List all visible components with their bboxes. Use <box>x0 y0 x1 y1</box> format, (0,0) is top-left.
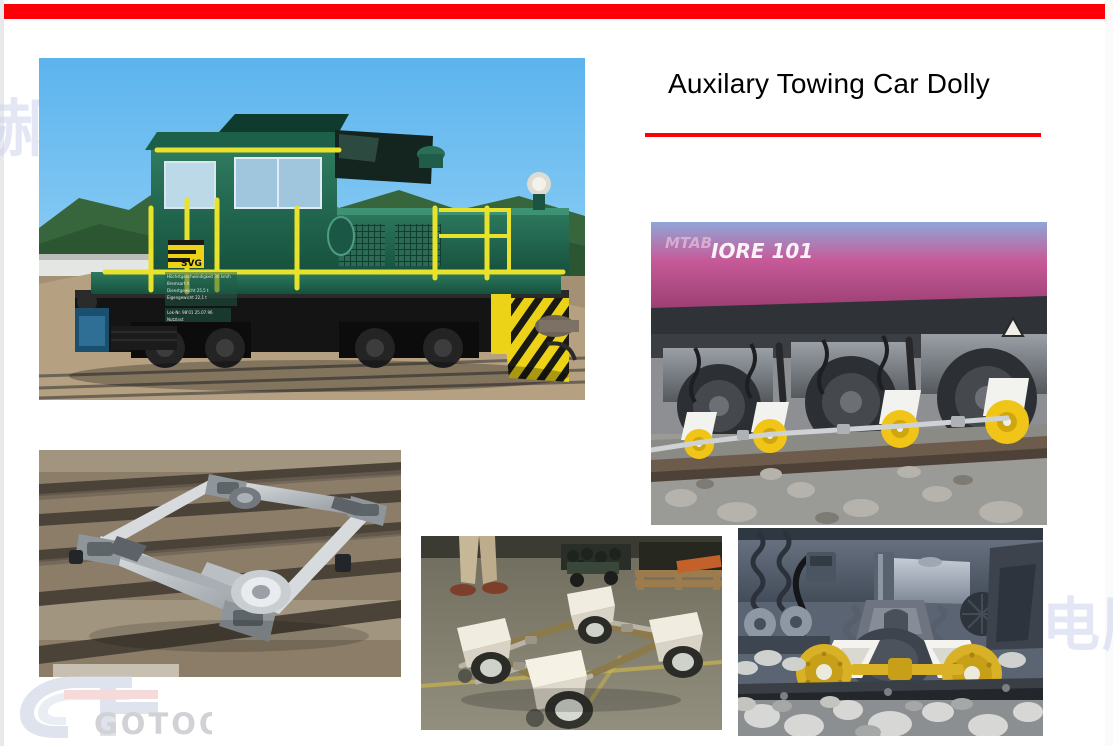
svg-text:GOTOO: GOTOO <box>94 707 212 741</box>
svg-text:Lok-Nr. 98'01 25.07.96: Lok-Nr. 98'01 25.07.96 <box>167 310 213 315</box>
brand-logo: GOTOO <box>12 672 212 742</box>
photo-iore-locomotive-bogies-with-dollies: IORE 101 MTAB <box>651 222 1047 525</box>
photo-workshop-dolly-assembly <box>421 536 722 730</box>
svg-text:Höchstgeschwindigkeit 30 km/: Höchstgeschwindigkeit 30 km/h <box>167 274 231 279</box>
svg-text:Eigengewicht 22,1 t: Eigengewicht 22,1 t <box>167 295 207 300</box>
svg-text:Nutzlast: Nutzlast <box>167 317 184 322</box>
svg-text:MTAB: MTAB <box>665 234 712 252</box>
photo-green-shunting-locomotive: SVG Höchstgeschwindigkeit 30 km/h Bremsa… <box>39 58 585 400</box>
top-accent-bar <box>4 4 1105 19</box>
page-title: Auxilary Towing Car Dolly <box>668 68 990 100</box>
svg-text:SVG: SVG <box>181 259 202 269</box>
watermark-right: 电服 <box>1042 578 1113 662</box>
svg-text:Dienstgewicht 25,5 t: Dienstgewicht 25,5 t <box>167 288 209 293</box>
title-underline <box>645 133 1041 137</box>
svg-text:Bremsart A: Bremsart A <box>167 281 190 286</box>
photo-dolly-under-bogie-closeup <box>738 528 1043 736</box>
slide-canvas: 郝亚鹏电器股份 铁杉 电服 Auxilary Towing Car Dolly <box>0 0 1113 746</box>
svg-text:IORE 101: IORE 101 <box>711 239 813 263</box>
photo-galvanized-dolly-frame <box>39 450 401 677</box>
